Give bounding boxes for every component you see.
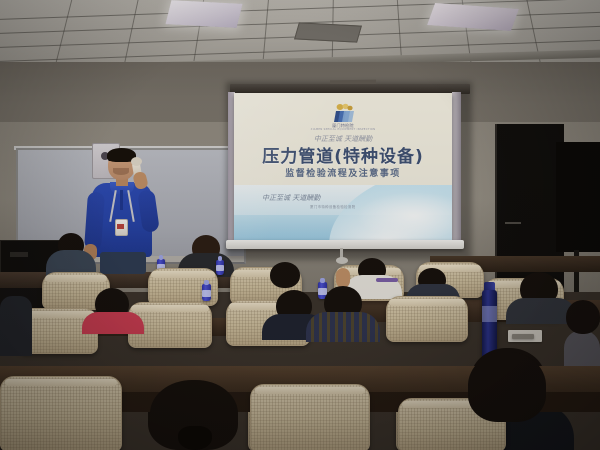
presenter-lower-body xyxy=(100,252,146,274)
attendee-shoulders-pink xyxy=(82,312,144,334)
chair-foreground-center[interactable] xyxy=(250,384,370,450)
ceiling-light-panel-right xyxy=(427,3,519,31)
paper-text-line xyxy=(512,334,534,339)
presenter-shirt-placket xyxy=(120,190,123,210)
thermos-label xyxy=(482,306,497,322)
conference-room-photo: 厦门特检院 XIAMEN SPECIAL EQUIPMENT INSPECTIO… xyxy=(0,0,600,450)
presenter-face-shadow xyxy=(113,168,129,175)
ceiling-light-panel-left xyxy=(165,0,242,28)
water-bottle-label xyxy=(216,265,224,271)
monitor-stand xyxy=(10,252,28,257)
screen-right-edge xyxy=(452,92,461,242)
id-badge-photo xyxy=(117,224,124,229)
attendee-ponytail xyxy=(178,426,212,450)
attendee-shoulders-edge xyxy=(0,296,32,356)
chair-foreground-left[interactable] xyxy=(0,376,122,450)
screen-glare xyxy=(234,93,452,241)
screen-bottom-bar[interactable] xyxy=(226,240,464,249)
water-bottle-label xyxy=(202,290,211,297)
attendee-head xyxy=(270,262,300,288)
attendee-shoulders-plaid xyxy=(306,312,380,342)
chair[interactable] xyxy=(386,296,468,342)
projection-screen-slide: 厦门特检院 XIAMEN SPECIAL EQUIPMENT INSPECTIO… xyxy=(234,93,452,241)
av-equipment-rack xyxy=(556,142,600,252)
screen-pull-handle[interactable] xyxy=(336,257,348,264)
door-handle[interactable] xyxy=(505,222,521,224)
air-vent-grille xyxy=(294,22,362,42)
attendee-hand xyxy=(336,268,350,288)
microphone-head-icon xyxy=(131,157,142,166)
attendee-lanyard xyxy=(376,278,398,282)
attendee-head-front-right xyxy=(468,352,546,422)
attendee-head xyxy=(566,300,600,334)
